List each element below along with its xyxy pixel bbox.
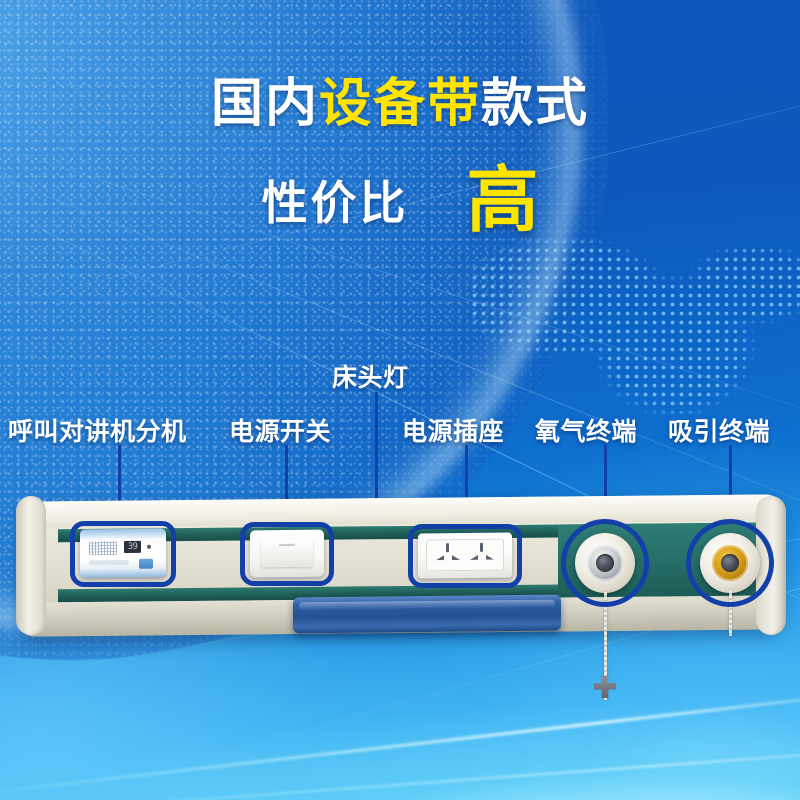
highlight-box-power-switch (240, 522, 334, 586)
bed-lamp-light-strip (293, 595, 561, 634)
headline-line-2: 性价比高 (0, 164, 800, 236)
highlight-circle-oxygen (561, 519, 649, 607)
headline-subtext: 性价比 (261, 176, 408, 230)
highlight-box-power-socket (408, 524, 522, 588)
callout-label-power-socket: 电源插座 (402, 412, 504, 448)
callout-label-oxygen: 氧气终端 (535, 412, 637, 448)
promo-banner: 国内设备带款式 性价比高 呼叫对讲机分机 电源开关 床头灯 电源插座 氧气终端 … (0, 0, 800, 800)
headline-block: 国内设备带款式 性价比高 (0, 78, 800, 130)
callout-label-intercom: 呼叫对讲机分机 (8, 412, 187, 448)
headline-part-1: 国内 (211, 74, 319, 134)
halftone-world-map (470, 228, 800, 443)
headline-part-2: 设备带 (319, 74, 481, 134)
headline-emphasis: 高 (466, 158, 538, 242)
callout-label-power-switch: 电源开关 (229, 412, 331, 448)
highlight-box-intercom (70, 521, 176, 587)
callout-label-bed-lamp: 床头灯 (332, 358, 409, 394)
headline-part-3: 款式 (481, 74, 589, 134)
headline-line-1: 国内设备带款式 (0, 78, 800, 130)
callout-label-suction: 吸引终端 (668, 412, 770, 448)
highlight-circle-suction (686, 519, 774, 607)
panel-endcap-left (16, 496, 46, 635)
